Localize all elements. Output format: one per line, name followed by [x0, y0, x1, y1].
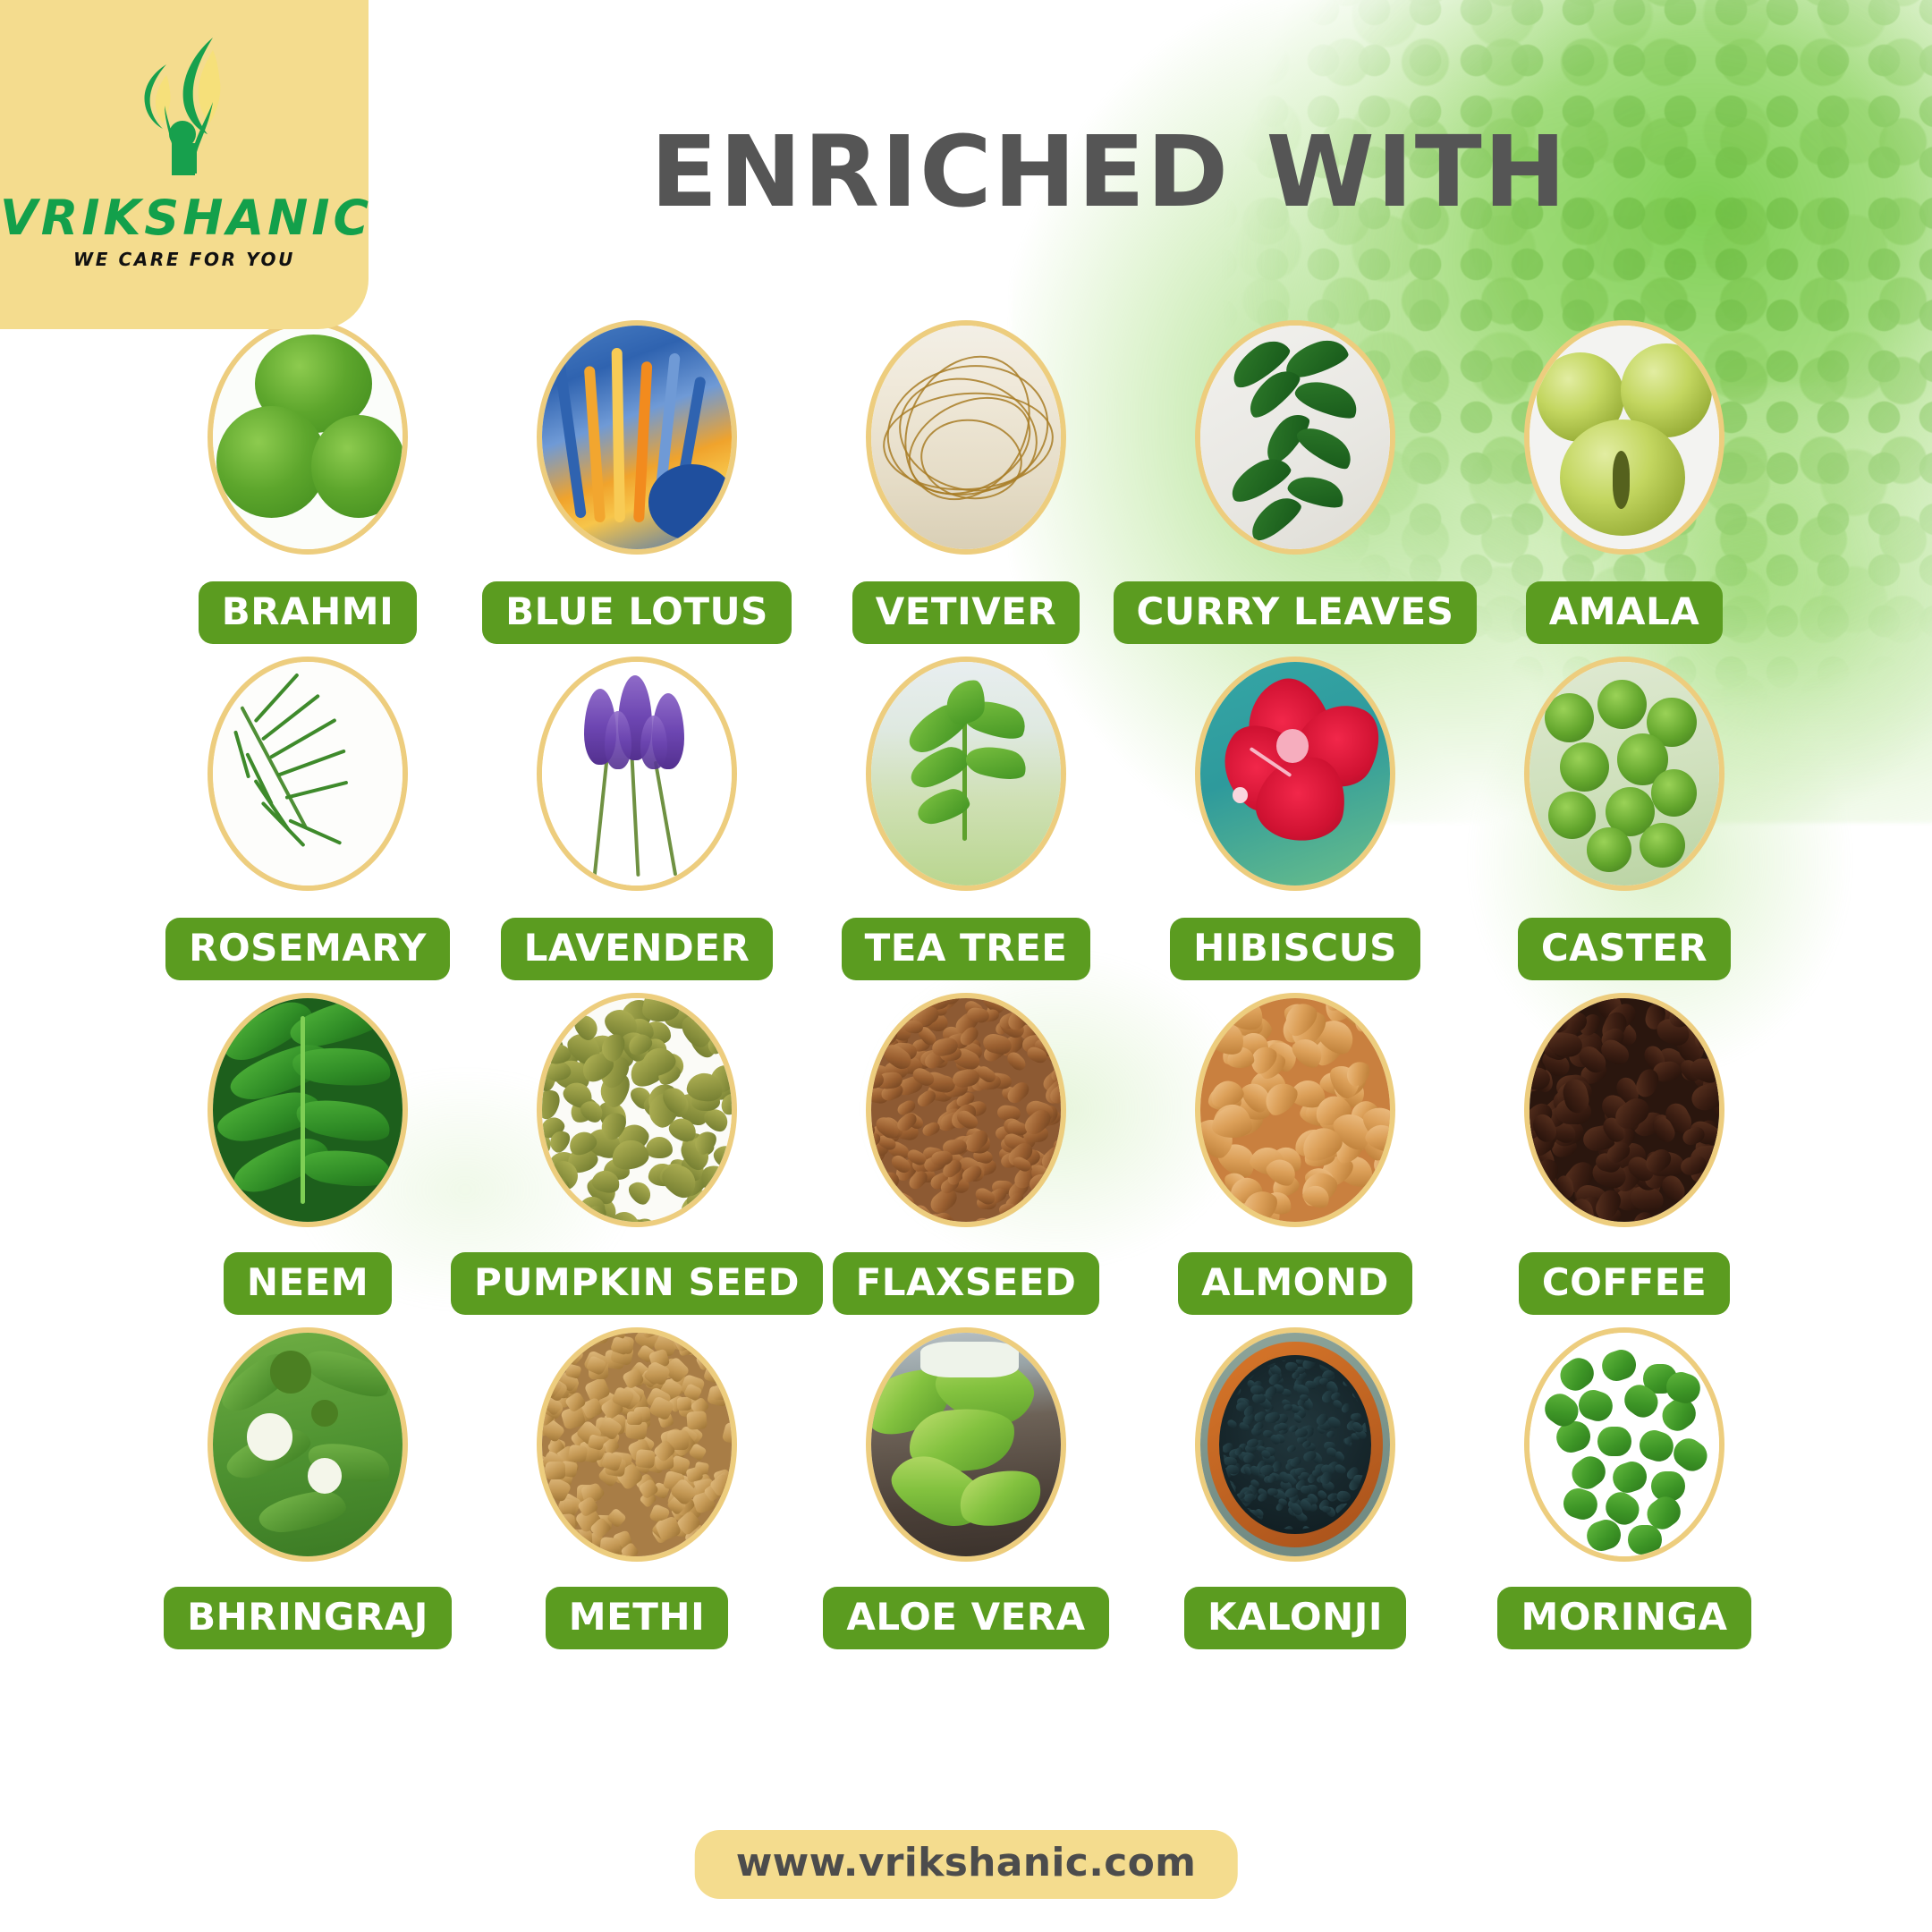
fenugreek-seeds-photo	[537, 1327, 737, 1562]
flaxseeds-photo	[866, 993, 1066, 1227]
rosemary-sprig-photo	[208, 657, 408, 891]
coffee-beans-photo	[1524, 993, 1724, 1227]
brand-tagline: WE CARE FOR YOU	[0, 249, 369, 270]
ingredient-cell-hibiscus[interactable]: HIBISCUS	[1131, 657, 1460, 980]
ingredient-label: VETIVER	[852, 581, 1080, 644]
neem-leaves-photo	[208, 993, 408, 1227]
ingredient-label: BHRINGRAJ	[164, 1587, 452, 1649]
ingredient-cell-lavender[interactable]: LAVENDER	[472, 657, 801, 980]
ingredient-label: ALOE VERA	[823, 1587, 1108, 1649]
ingredient-label: ROSEMARY	[165, 918, 450, 980]
bhringraj-plant-photo	[208, 1327, 408, 1562]
grid-row-3: NEEM PUMPKIN SEED FLAXSEED ALMOND	[0, 993, 1932, 1315]
brand-wordmark: VRIKSHANIC	[0, 190, 369, 246]
ingredient-label: BLUE LOTUS	[482, 581, 792, 644]
ingredient-cell-methi[interactable]: METHI	[472, 1327, 801, 1649]
ingredient-label: BRAHMI	[199, 581, 417, 644]
grid-row-1: BRAHMI BLUE LOTUS	[0, 320, 1932, 644]
ingredient-label: ALMOND	[1178, 1252, 1412, 1315]
brand-logo-card: VRIKSHANIC WE CARE FOR YOU	[0, 0, 369, 329]
vetiver-roots-photo	[866, 320, 1066, 555]
ingredient-cell-caster[interactable]: CASTER	[1460, 657, 1789, 980]
lavender-flowers-photo	[537, 657, 737, 891]
tea-tree-shoot-photo	[866, 657, 1066, 891]
sprout-flame-person-icon	[113, 30, 256, 189]
ingredient-label: FLAXSEED	[833, 1252, 1100, 1315]
ingredient-cell-flaxseed[interactable]: FLAXSEED	[801, 993, 1131, 1315]
ingredient-cell-vetiver[interactable]: VETIVER	[801, 320, 1131, 644]
ingredient-cell-almond[interactable]: ALMOND	[1131, 993, 1460, 1315]
ingredient-label: COFFEE	[1519, 1252, 1730, 1315]
page-title: ENRICHED WITH	[385, 114, 1834, 229]
ingredient-label: NEEM	[224, 1252, 392, 1315]
ingredient-cell-curry-leaves[interactable]: CURRY LEAVES	[1131, 320, 1460, 644]
pumpkin-seeds-photo	[537, 993, 737, 1227]
brahmi-leaves-photo	[208, 320, 408, 555]
ingredient-grid: BRAHMI BLUE LOTUS	[0, 320, 1932, 1662]
ingredient-cell-rosemary[interactable]: ROSEMARY	[143, 657, 472, 980]
ingredient-label: AMALA	[1526, 581, 1724, 644]
ingredient-label: TEA TREE	[842, 918, 1091, 980]
ingredient-cell-pumpkin-seed[interactable]: PUMPKIN SEED	[472, 993, 801, 1315]
poster-canvas: VRIKSHANIC WE CARE FOR YOU ENRICHED WITH…	[0, 0, 1932, 1932]
ingredient-label: CASTER	[1518, 918, 1731, 980]
amla-gooseberry-photo	[1524, 320, 1724, 555]
ingredient-cell-kalonji[interactable]: KALONJI	[1131, 1327, 1460, 1649]
ingredient-label: HIBISCUS	[1170, 918, 1420, 980]
ingredient-cell-neem[interactable]: NEEM	[143, 993, 472, 1315]
ingredient-cell-coffee[interactable]: COFFEE	[1460, 993, 1789, 1315]
ingredient-cell-tea-tree[interactable]: TEA TREE	[801, 657, 1131, 980]
grid-row-2: ROSEMARY LAVENDER	[0, 657, 1932, 980]
website-url-badge[interactable]: www.vrikshanic.com	[695, 1830, 1238, 1899]
ingredient-cell-amala[interactable]: AMALA	[1460, 320, 1789, 644]
castor-seed-pods-photo	[1524, 657, 1724, 891]
almonds-photo	[1195, 993, 1395, 1227]
ingredient-label: MORINGA	[1497, 1587, 1750, 1649]
ingredient-label: METHI	[546, 1587, 728, 1649]
ingredient-label: LAVENDER	[501, 918, 774, 980]
curry-leaves-photo	[1195, 320, 1395, 555]
nigella-seeds-bowl-photo	[1195, 1327, 1395, 1562]
ingredient-label: CURRY LEAVES	[1114, 581, 1478, 644]
aloe-vera-leaves-photo	[866, 1327, 1066, 1562]
ingredient-cell-moringa[interactable]: MORINGA	[1460, 1327, 1789, 1649]
ingredient-cell-bhringraj[interactable]: BHRINGRAJ	[143, 1327, 472, 1649]
ingredient-cell-brahmi[interactable]: BRAHMI	[143, 320, 472, 644]
ingredient-cell-blue-lotus[interactable]: BLUE LOTUS	[472, 320, 801, 644]
moringa-leaves-photo	[1524, 1327, 1724, 1562]
grid-row-4: BHRINGRAJ METHI	[0, 1327, 1932, 1649]
blue-lotus-flower-photo	[537, 320, 737, 555]
hibiscus-flower-photo	[1195, 657, 1395, 891]
ingredient-cell-aloe-vera[interactable]: ALOE VERA	[801, 1327, 1131, 1649]
ingredient-label: PUMPKIN SEED	[451, 1252, 823, 1315]
ingredient-label: KALONJI	[1184, 1587, 1406, 1649]
